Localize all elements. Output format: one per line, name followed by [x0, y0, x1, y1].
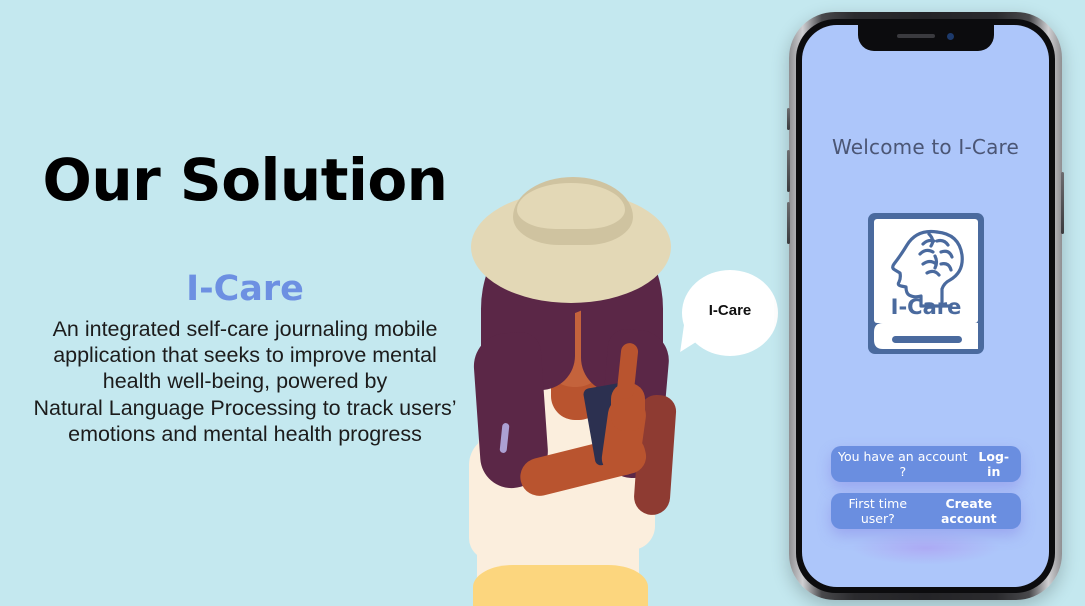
create-account-button-prefix: First time user? [837, 496, 920, 526]
text-column: Our Solution I-Care An integrated self-c… [0, 0, 490, 606]
phone-notch [858, 25, 994, 51]
earpiece-speaker-icon [897, 34, 935, 38]
brain-head-book-icon: I-Care [865, 210, 987, 357]
auth-button-group: You have an account ? Log-in First time … [802, 446, 1049, 529]
create-account-button-action: Create account [923, 496, 1014, 526]
login-button-prefix: You have an account ? [837, 449, 970, 479]
power-button[interactable] [1061, 172, 1064, 234]
phone-screen: Welcome to I-Care [802, 25, 1049, 587]
mute-switch-button[interactable] [787, 108, 790, 130]
phone-bezel: Welcome to I-Care [796, 19, 1055, 593]
login-button-action: Log-in [973, 449, 1014, 479]
phone-mockup: Welcome to I-Care [789, 12, 1062, 600]
create-account-button[interactable]: First time user? Create account [831, 493, 1021, 529]
volume-up-button[interactable] [787, 150, 790, 192]
woman-with-phone-illustration [455, 185, 700, 606]
skirt-shape [473, 565, 648, 606]
volume-down-button[interactable] [787, 202, 790, 244]
login-button[interactable]: You have an account ? Log-in [831, 446, 1021, 482]
welcome-heading: Welcome to I-Care [802, 135, 1049, 159]
page-title: Our Solution [0, 150, 490, 211]
slide-canvas: Our Solution I-Care An integrated self-c… [0, 0, 1085, 606]
product-name-heading: I-Care [0, 270, 490, 309]
front-camera-icon [947, 33, 954, 40]
button-glow [851, 531, 1001, 565]
product-description: An integrated self-care journaling mobil… [10, 316, 480, 447]
speech-bubble-label: I-Care [682, 302, 778, 319]
app-logo-label: I-Care [890, 295, 961, 319]
hat-crown-highlight-shape [517, 183, 625, 229]
app-logo: I-Care [865, 210, 987, 357]
